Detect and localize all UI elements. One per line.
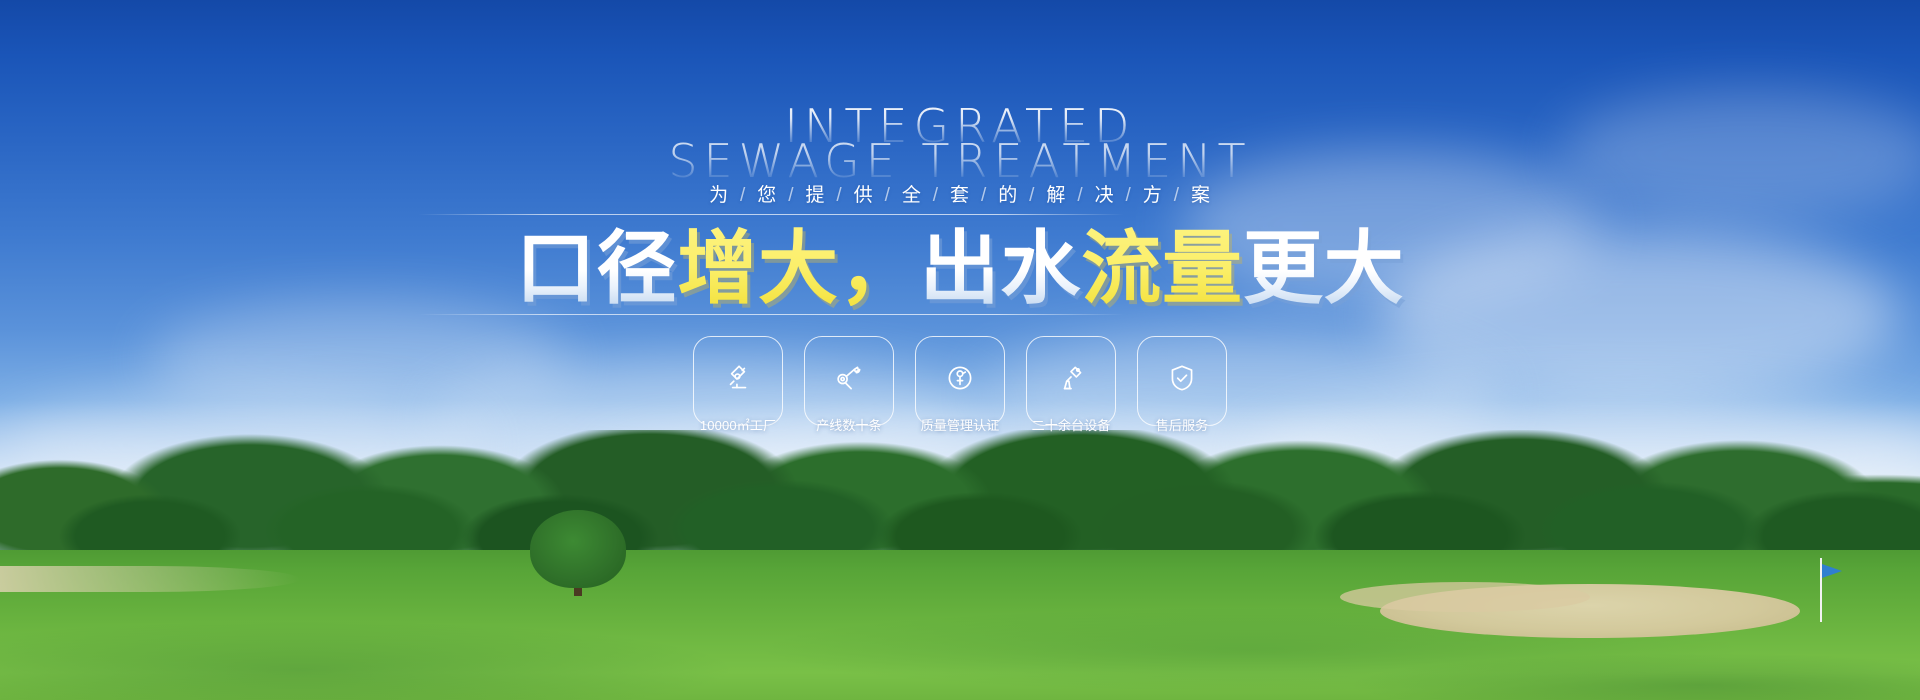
subtitle-char: 解	[1046, 180, 1066, 207]
landscape-background	[0, 430, 1920, 700]
main-headline: 口径增大，出水流量更大	[0, 226, 1920, 312]
production-line-icon	[831, 360, 867, 396]
subtitle-char: 案	[1191, 180, 1211, 207]
headline-segment-white: 出水	[920, 226, 1082, 312]
headline-segment-yellow: 增大，	[677, 226, 919, 312]
subtitle-char: 提	[805, 180, 825, 207]
feature-badge-row: 10000㎡工厂产线数十条质量管理认证二十余台设备售后服务	[0, 336, 1920, 426]
feature-badge-2[interactable]: 产线数十条	[804, 336, 894, 426]
factory-microscope-icon	[720, 360, 756, 396]
divider-top	[418, 214, 1124, 215]
subtitle-separator: /	[885, 185, 891, 206]
subtitle-char: 供	[854, 180, 874, 207]
subtitle-char: 全	[902, 180, 922, 207]
feature-badge-label: 二十余台设备	[1028, 415, 1115, 434]
subtitle-separator: /	[1126, 185, 1132, 206]
subtitle-separator: /	[788, 185, 794, 206]
subtitle-separator: /	[836, 185, 842, 206]
flag-pole	[1820, 558, 1822, 622]
solo-tree	[530, 510, 626, 588]
headline-segment-white: 更大	[1243, 226, 1405, 312]
subtitle-separator: /	[1077, 185, 1083, 206]
subtitle-char: 您	[757, 180, 777, 207]
subtitle-separator: /	[1029, 185, 1035, 206]
subtitle-char: 套	[950, 180, 970, 207]
divider-bottom	[418, 314, 1124, 315]
subtitle-separator: /	[740, 185, 746, 206]
feature-badge-3[interactable]: 质量管理认证	[915, 336, 1005, 426]
subtitle-separator: /	[981, 185, 987, 206]
subtitle-separator: /	[933, 185, 939, 206]
subtitle-char: 决	[1095, 180, 1115, 207]
sand-bunker-small	[1340, 582, 1590, 612]
feature-badge-label: 质量管理认证	[917, 415, 1004, 434]
feature-badge-1[interactable]: 10000㎡工厂	[693, 336, 783, 426]
feature-badge-5[interactable]: 售后服务	[1137, 336, 1227, 426]
english-headline-line2: SEWAGE TREATMENT	[0, 138, 1920, 184]
feature-badge-4[interactable]: 二十余台设备	[1026, 336, 1116, 426]
feature-badge-label: 产线数十条	[812, 415, 886, 434]
feature-badge-label: 售后服务	[1152, 415, 1213, 434]
shield-service-icon	[1164, 360, 1200, 396]
subtitle-slogan: 为/您/提/供/全/套/的/解/决/方/案	[0, 180, 1920, 207]
subtitle-char: 的	[998, 180, 1018, 207]
headline-segment-white: 口径	[516, 226, 678, 312]
hero-banner: INTEGRATED SEWAGE TREATMENT 为/您/提/供/全/套/…	[0, 0, 1920, 700]
feature-badge-label: 10000㎡工厂	[696, 415, 780, 434]
headline-segment-yellow: 流量	[1081, 226, 1243, 312]
subtitle-char: 方	[1143, 180, 1163, 207]
certification-medal-icon	[942, 360, 978, 396]
equipment-tool-icon	[1053, 360, 1089, 396]
subtitle-char: 为	[709, 180, 729, 207]
sand-path	[0, 566, 300, 592]
subtitle-separator: /	[1174, 185, 1180, 206]
